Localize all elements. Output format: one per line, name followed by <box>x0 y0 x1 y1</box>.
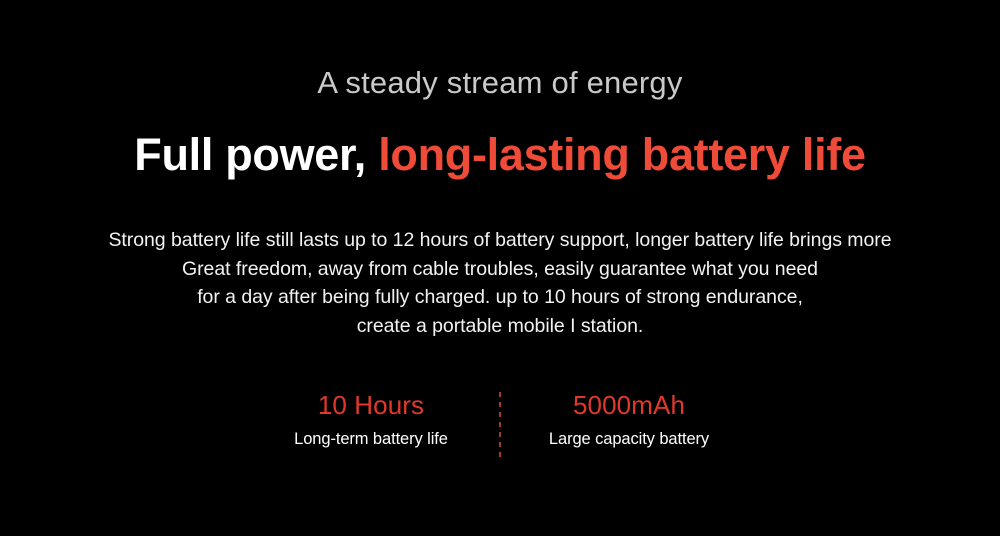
product-feature-banner: A steady stream of energy Full power, lo… <box>0 0 1000 536</box>
description-line-4: create a portable mobile I station. <box>0 312 1000 341</box>
headline-red-segment: long-lasting battery life <box>378 129 866 180</box>
description-line-2: Great freedom, away from cable troubles,… <box>0 255 1000 284</box>
description-line-1: Strong battery life still lasts up to 12… <box>0 226 1000 255</box>
banner-subtitle: A steady stream of energy <box>0 62 1000 104</box>
spec-item-capacity: 5000mAh Large capacity battery <box>514 388 744 450</box>
spec-item-battery-life: 10 Hours Long-term battery life <box>256 388 486 450</box>
description-line-3: for a day after being fully charged. up … <box>0 283 1000 312</box>
spec-label-capacity: Large capacity battery <box>514 428 744 450</box>
headline-white-segment: Full power, <box>134 129 378 180</box>
vertical-dashed-divider <box>499 392 501 460</box>
spec-label-battery-life: Long-term battery life <box>256 428 486 450</box>
spec-highlights: 10 Hours Long-term battery life 5000mAh … <box>0 388 1000 460</box>
spec-value-battery-life: 10 Hours <box>256 388 486 422</box>
banner-description: Strong battery life still lasts up to 12… <box>0 226 1000 340</box>
banner-headline: Full power, long-lasting battery life <box>0 126 1000 184</box>
spec-value-capacity: 5000mAh <box>514 388 744 422</box>
